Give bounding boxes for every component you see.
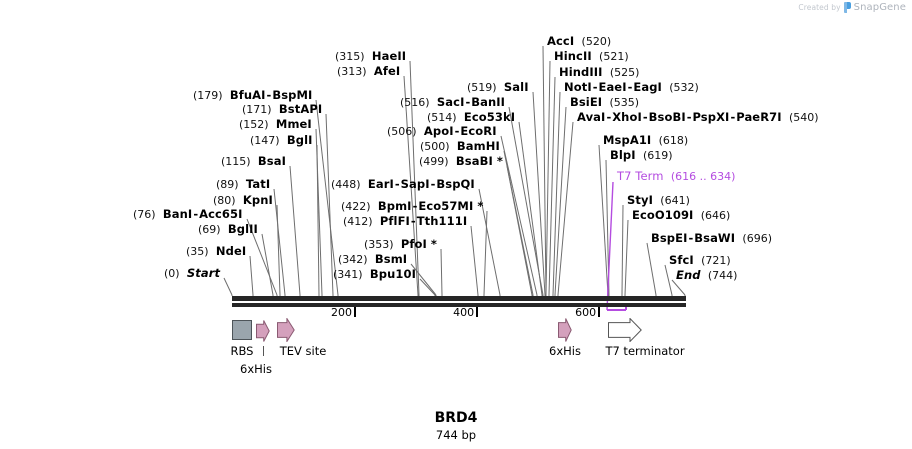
enzyme-position: (514)	[427, 111, 457, 124]
enzyme-site-label[interactable]: End (744)	[676, 269, 737, 282]
enzyme-name: PaeR7I	[736, 110, 781, 124]
leader-line	[317, 145, 319, 295]
leader-line	[316, 129, 322, 295]
feature-label: T7 terminator	[590, 344, 700, 358]
enzyme-name: KpnI	[243, 193, 273, 207]
enzyme-name: EaeI	[598, 80, 626, 94]
enzyme-position: (342)	[338, 253, 368, 266]
leader-line	[501, 136, 537, 295]
ruler-label-400: 400	[448, 306, 474, 319]
enzyme-name: BglII	[228, 222, 258, 236]
enzyme-position: (516)	[400, 96, 430, 109]
enzyme-site-label[interactable]: (115) BsaI	[221, 155, 286, 168]
ruler-label-600: 600	[570, 306, 596, 319]
enzyme-position: (89)	[216, 178, 239, 191]
enzyme-site-label[interactable]: AvaI-XhoI-BsoBI-PspXI-PaeR7I (540)	[577, 111, 819, 124]
leader-line	[625, 220, 628, 295]
enzyme-name: End	[676, 268, 701, 282]
enzyme-name: ApoI	[424, 124, 454, 138]
enzyme-position: (147)	[250, 134, 280, 147]
leader-line	[555, 107, 566, 295]
leader-line	[543, 46, 546, 295]
enzyme-name: BsiEI	[570, 95, 602, 109]
enzyme-position: (179)	[193, 89, 223, 102]
enzyme-position: (35)	[186, 245, 209, 258]
enzyme-name: Acc65I	[199, 207, 242, 221]
enzyme-name: HindIII	[559, 65, 603, 79]
enzyme-name: HincII	[554, 49, 592, 63]
enzyme-site-label[interactable]: (315) HaeII	[335, 50, 406, 63]
snapgene-watermark: Created by SnapGene	[798, 2, 906, 13]
enzyme-name: BanII	[471, 95, 505, 109]
enzyme-site-label[interactable]: (412) PflFI-Tth111I	[343, 215, 467, 228]
enzyme-position: (641)	[660, 194, 690, 207]
leader-line	[441, 249, 442, 295]
enzyme-name: BglI	[287, 133, 313, 147]
feature-name: T7 Term	[617, 169, 664, 183]
enzyme-position: (532)	[669, 81, 699, 94]
enzyme-position: (171)	[242, 103, 272, 116]
enzyme-name: PspXI	[692, 110, 729, 124]
leader-line	[519, 122, 542, 295]
enzyme-site-label[interactable]: (35) NdeI	[186, 245, 246, 258]
enzyme-name: EarI	[368, 177, 394, 191]
enzyme-position: (535)	[610, 96, 640, 109]
enzyme-site-label[interactable]: BlpI (619)	[610, 149, 673, 162]
enzyme-position: (313)	[337, 65, 367, 78]
feature-leader-line	[607, 182, 613, 310]
enzyme-position: (744)	[708, 269, 738, 282]
enzyme-name: Bpu10I	[370, 267, 416, 281]
leader-line	[316, 100, 338, 295]
enzyme-name: MmeI	[276, 117, 312, 131]
leader-line	[504, 151, 533, 295]
enzyme-name: SapI	[401, 177, 430, 191]
enzyme-position: (315)	[335, 50, 365, 63]
enzyme-position: (618)	[659, 134, 689, 147]
enzyme-site-label[interactable]: NotI-EaeI-EagI (532)	[564, 81, 699, 94]
leader-line	[262, 234, 273, 295]
enzyme-position: (646)	[701, 209, 731, 222]
arrow-icon	[558, 318, 572, 342]
leader-line	[558, 122, 573, 295]
enzyme-site-label[interactable]: (506) ApoI-EcoRI	[387, 125, 497, 138]
enzyme-site-label[interactable]: HincII (521)	[554, 50, 629, 63]
feature-arrow-6xhis[interactable]	[558, 318, 572, 342]
feature-arrow-t7-terminator[interactable]	[608, 318, 642, 342]
enzyme-name: NdeI	[216, 244, 246, 258]
arrow-icon	[608, 318, 642, 342]
enzyme-name: BanI	[163, 207, 192, 221]
leader-line	[274, 189, 285, 295]
enzyme-name: XhoI	[612, 110, 642, 124]
enzyme-name: BsoBI	[649, 110, 686, 124]
enzyme-name: NotI	[564, 80, 592, 94]
enzyme-name: SalI	[504, 80, 529, 94]
enzyme-site-label[interactable]: StyI (641)	[627, 194, 690, 207]
enzyme-name: SacI	[437, 95, 465, 109]
enzyme-star: *	[427, 237, 437, 251]
enzyme-name: BamHI	[457, 139, 500, 153]
enzyme-name: BlpI	[610, 148, 636, 162]
enzyme-position: (422)	[341, 200, 371, 213]
enzyme-position: (619)	[643, 149, 673, 162]
enzyme-name: BspQI	[436, 177, 474, 191]
page-title: BRD4	[0, 410, 912, 426]
feature-rect-rbs[interactable]	[232, 320, 252, 340]
feature-range: (616 .. 634)	[671, 170, 736, 183]
enzyme-name: BspMI	[272, 88, 312, 102]
enzyme-site-label[interactable]: (89) TatI	[216, 178, 270, 191]
leader-line	[484, 211, 487, 295]
ruler-tick-200	[354, 307, 356, 317]
enzyme-site-label[interactable]: HindIII (525)	[559, 66, 639, 79]
enzyme-position: (341)	[333, 268, 363, 281]
leader-line	[606, 160, 609, 295]
enzyme-name: EcoO109I	[632, 208, 693, 222]
enzyme-site-label[interactable]: (313) AfeI	[337, 65, 400, 78]
enzyme-position: (115)	[221, 155, 251, 168]
leader-line	[507, 166, 532, 295]
leader-line	[250, 256, 253, 295]
feature-range-label[interactable]: T7 Term (616 .. 634)	[617, 170, 735, 183]
leader-line	[420, 279, 435, 295]
snapgene-flag-icon	[844, 2, 851, 13]
enzyme-site-label[interactable]: SfcI (721)	[669, 254, 731, 267]
enzyme-position: (521)	[599, 50, 629, 63]
enzyme-site-label[interactable]: MspA1I (618)	[603, 134, 688, 147]
enzyme-position: (499)	[419, 155, 449, 168]
sequence-length: 744 bp	[0, 428, 912, 442]
enzyme-site-label[interactable]: (500) BamHI	[420, 140, 500, 153]
leader-line	[326, 114, 333, 295]
leader-line	[533, 92, 545, 295]
leader-line	[471, 226, 478, 295]
enzyme-name: TatI	[246, 177, 270, 191]
enzyme-site-label[interactable]: (80) KpnI	[213, 194, 273, 207]
enzyme-site-label[interactable]: (519) SalI	[467, 81, 529, 94]
enzyme-site-label[interactable]: (422) BpmI-Eco57MI *	[341, 200, 483, 213]
enzyme-separator: -	[642, 110, 649, 124]
enzyme-name: StyI	[627, 193, 653, 207]
enzyme-name: BfuAI	[230, 88, 266, 102]
enzyme-site-label[interactable]: (171) BstAPI	[242, 103, 322, 116]
enzyme-name: BpmI	[378, 199, 412, 213]
enzyme-position: (519)	[467, 81, 497, 94]
feature-label: 6xHis	[540, 344, 590, 358]
enzyme-name: SfcI	[669, 253, 694, 267]
enzyme-name: BsaI	[258, 154, 286, 168]
arrow-icon	[277, 318, 295, 342]
leader-line	[509, 107, 543, 295]
ruler-label-200: 200	[326, 306, 352, 319]
enzyme-name: HaeII	[372, 49, 406, 63]
leader-line	[647, 243, 656, 295]
enzyme-position: (0)	[164, 267, 180, 280]
enzyme-name: BspEI	[651, 231, 687, 245]
enzyme-position: (506)	[387, 125, 417, 138]
leader-line	[277, 205, 280, 295]
enzyme-name: Eco53kI	[464, 110, 515, 124]
enzyme-position: (500)	[420, 140, 450, 153]
enzyme-position: (76)	[133, 208, 156, 221]
feature-arrow-6xhis[interactable]	[256, 320, 270, 342]
enzyme-position: (721)	[701, 254, 731, 267]
feature-label: TEV site	[263, 344, 343, 358]
enzyme-position: (525)	[610, 66, 640, 79]
enzyme-site-label[interactable]: (514) Eco53kI	[427, 111, 515, 124]
enzyme-separator: -	[410, 214, 417, 228]
enzyme-position: (80)	[213, 194, 236, 207]
enzyme-name: AccI	[547, 34, 574, 48]
enzyme-position: (540)	[789, 111, 819, 124]
enzyme-position: (412)	[343, 215, 373, 228]
sequence-bar[interactable]	[232, 296, 686, 301]
enzyme-name: PflFI	[380, 214, 410, 228]
enzyme-position: (520)	[582, 35, 612, 48]
leader-line	[553, 92, 560, 295]
enzyme-name: BsaBI	[456, 154, 493, 168]
enzyme-position: (696)	[742, 232, 772, 245]
enzyme-name: EcoRI	[460, 124, 496, 138]
enzyme-site-label[interactable]: (69) BglII	[198, 223, 258, 236]
enzyme-star: *	[493, 154, 503, 168]
plasmid-map: Created by SnapGene (0) Start(35) NdeI(6…	[0, 0, 912, 449]
enzyme-site-label[interactable]: (152) MmeI	[239, 118, 312, 131]
leader-line	[665, 265, 672, 295]
watermark-created-by: Created by	[798, 3, 840, 12]
enzyme-site-label[interactable]: EcoO109I (646)	[632, 209, 730, 222]
leader-line	[622, 205, 623, 295]
enzyme-position: (353)	[364, 238, 394, 251]
arrow-icon	[256, 320, 270, 342]
enzyme-site-label[interactable]: (0) Start	[164, 267, 220, 280]
enzyme-name: AfeI	[374, 64, 400, 78]
enzyme-site-label[interactable]: (76) BanI-Acc65I	[133, 208, 243, 221]
enzyme-star: *	[473, 199, 483, 213]
enzyme-site-label[interactable]: BspEI-BsaWI (696)	[651, 232, 772, 245]
ruler-tick-400	[476, 307, 478, 317]
enzyme-name: MspA1I	[603, 133, 651, 147]
enzyme-site-label[interactable]: (353) PfoI *	[364, 238, 437, 251]
enzyme-name: PfoI	[401, 237, 427, 251]
enzyme-site-label[interactable]: (516) SacI-BanII	[400, 96, 505, 109]
enzyme-name: Start	[187, 266, 220, 280]
enzyme-name: BsaWI	[694, 231, 735, 245]
enzyme-name: BsmI	[375, 252, 407, 266]
enzyme-name: BstAPI	[279, 102, 322, 116]
leader-line	[599, 145, 608, 295]
enzyme-site-label[interactable]: (179) BfuAI-BspMI	[193, 89, 312, 102]
enzyme-site-label[interactable]: (499) BsaBI *	[419, 155, 503, 168]
leader-line	[546, 61, 550, 295]
enzyme-name: Tth111I	[417, 214, 468, 228]
enzyme-site-label[interactable]: (341) Bpu10I	[333, 268, 416, 281]
enzyme-name: EagI	[633, 80, 662, 94]
leader-line	[672, 280, 685, 295]
enzyme-site-label[interactable]: (448) EarI-SapI-BspQI	[331, 178, 475, 191]
leader-line	[549, 77, 555, 295]
enzyme-name: AvaI	[577, 110, 605, 124]
feature-label: 6xHis	[231, 362, 281, 376]
leader-line	[290, 166, 300, 295]
enzyme-site-label[interactable]: AccI (520)	[547, 35, 611, 48]
enzyme-position: (448)	[331, 178, 361, 191]
enzyme-separator: -	[394, 177, 401, 191]
enzyme-position: (69)	[198, 223, 221, 236]
ruler-tick-600	[598, 307, 600, 317]
enzyme-name: Eco57MI	[418, 199, 473, 213]
feature-label: RBS	[217, 344, 267, 358]
leader-line	[224, 278, 232, 295]
enzyme-site-label[interactable]: (147) BglI	[250, 134, 313, 147]
watermark-brand: SnapGene	[854, 2, 906, 13]
enzyme-site-label[interactable]: (342) BsmI	[338, 253, 407, 266]
enzyme-position: (152)	[239, 118, 269, 131]
feature-arrow-tev-site[interactable]	[277, 318, 295, 342]
enzyme-site-label[interactable]: BsiEI (535)	[570, 96, 639, 109]
